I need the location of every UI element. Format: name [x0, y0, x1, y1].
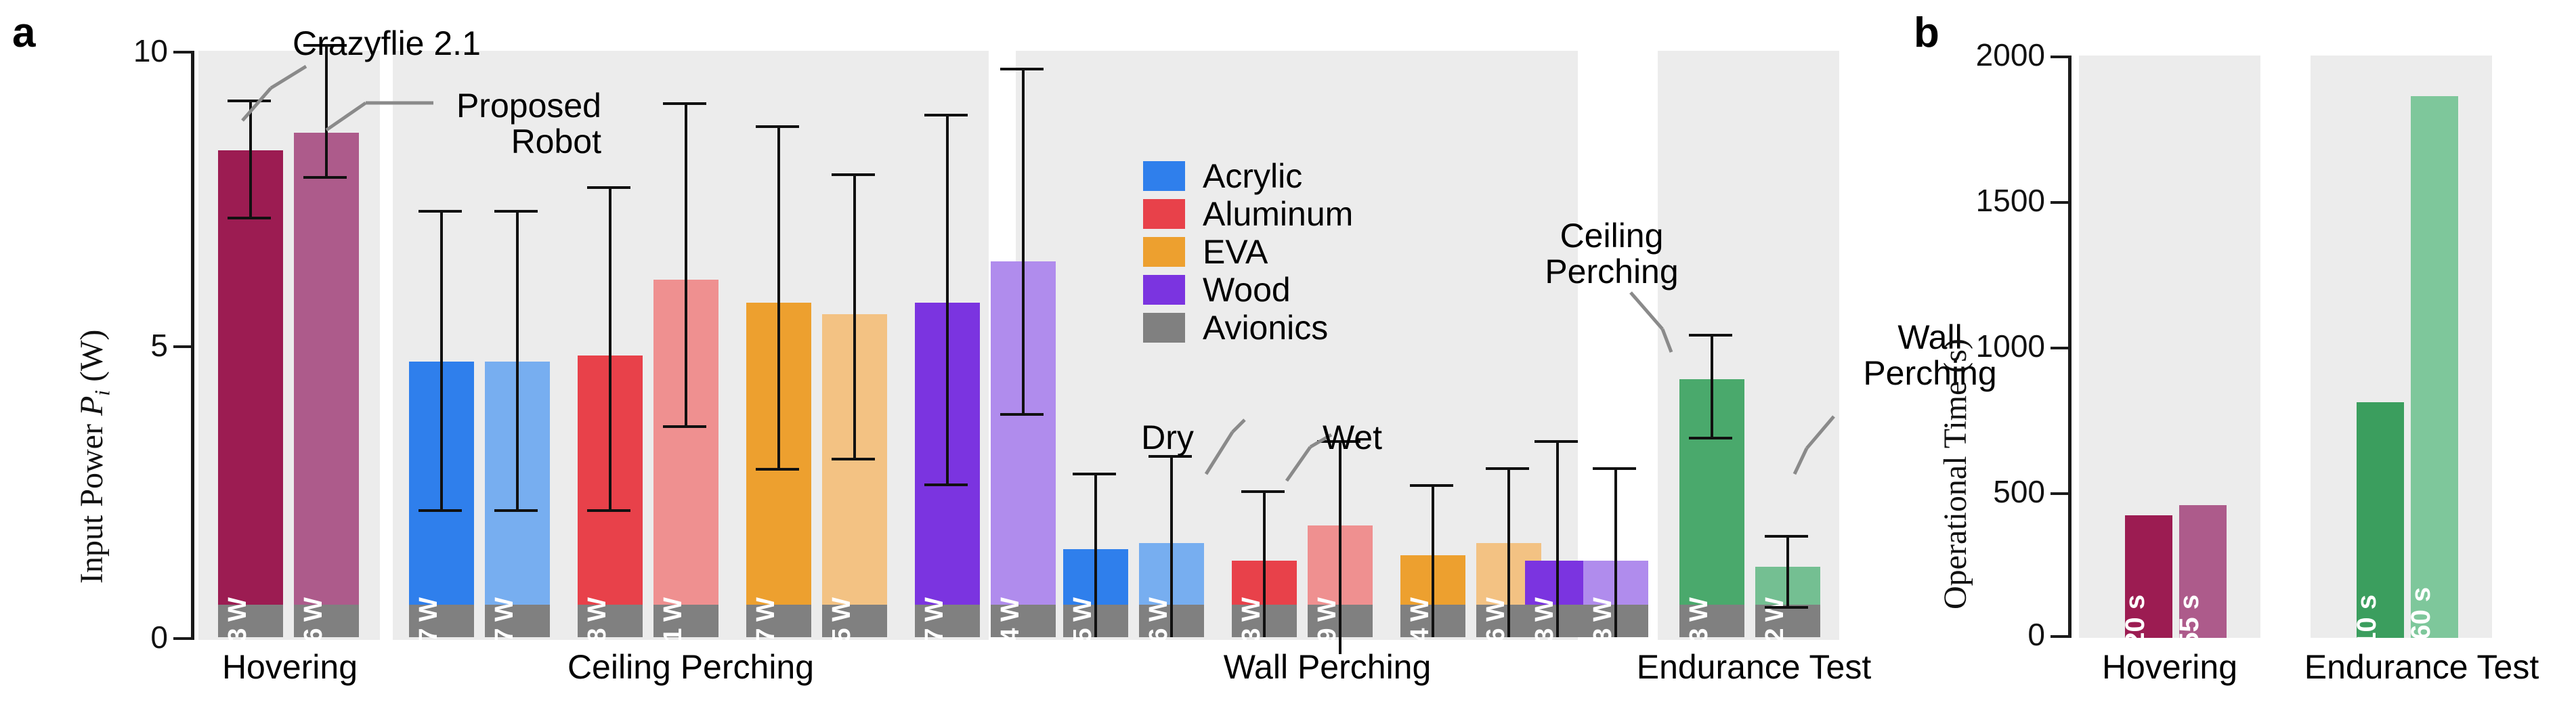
errorbar-stem: [853, 173, 856, 458]
ylabel-subscript: i: [91, 390, 114, 396]
legend-item-avionics[interactable]: Avionics: [1143, 309, 1353, 347]
errorbar-stem: [1022, 68, 1025, 413]
errorbar-stem: [516, 210, 519, 509]
bar-value-label: 4.7 W: [416, 598, 442, 664]
errorbar-stem: [1556, 440, 1559, 637]
errorbar-cap-bottom: [494, 509, 538, 512]
callout-crazyflie: Crazyflie 2.1: [293, 26, 481, 62]
legend-item-acrylic[interactable]: Acrylic: [1143, 157, 1353, 195]
callout-wet: Wet: [1295, 420, 1410, 456]
callout-dry: Dry: [1113, 420, 1222, 456]
errorbar-cap-top: [418, 210, 462, 213]
bar-value-label: 1.6 W: [1146, 598, 1172, 664]
legend-swatch-acrylic: [1143, 161, 1185, 191]
errorbar-stem: [609, 186, 611, 509]
bar-value-label: 4.7 W: [492, 598, 517, 664]
bar-value-label: 5.7 W: [922, 598, 947, 664]
errorbar-cap-bottom: [418, 509, 462, 512]
bar-body: [294, 133, 359, 637]
errorbar-cap-top: [1410, 484, 1453, 487]
errorbar-stem: [685, 102, 687, 425]
errorbar-stem: [1614, 467, 1617, 637]
panel-a-tick-0: [173, 637, 191, 640]
errorbar-stem: [1711, 334, 1713, 437]
errorbar-stem: [777, 125, 780, 468]
panel-a-ticklabel-0: 0: [81, 622, 168, 653]
panel-b-tick-500: [2051, 492, 2068, 495]
legend-label-aluminum: Aluminum: [1203, 197, 1353, 231]
panel-b-tick-2000: [2051, 56, 2068, 58]
bar-hovering-crazyflie: 8.3 W: [218, 150, 283, 637]
bar-hovering-proposed: 8.6 W: [294, 133, 359, 637]
panel-b-xlabel-hovering: Hovering: [2061, 650, 2278, 684]
panel-a-ticklabel-5: 5: [81, 330, 168, 361]
panel-a-tick-10: [173, 51, 191, 53]
bar-b-hovering-crazyflie: 420 s: [2125, 515, 2172, 638]
panel-b-tick-1500: [2051, 201, 2068, 204]
errorbar-cap-bottom: [587, 509, 630, 512]
errorbar-cap-top: [1593, 467, 1636, 470]
errorbar-cap-top: [663, 102, 706, 105]
errorbar-cap-top: [1073, 473, 1116, 475]
errorbar-stem: [1432, 484, 1434, 637]
legend-swatch-eva: [1143, 237, 1185, 267]
errorbar-stem: [1339, 440, 1341, 654]
errorbar-stem: [1507, 467, 1510, 637]
bar-b-hovering-proposed: 455 s: [2179, 505, 2227, 638]
bar-b-endurance-ceiling: 810 s: [2357, 402, 2404, 638]
errorbar-stem: [440, 210, 443, 509]
panel-b-ticklabel-2000: 2000: [1957, 39, 2045, 70]
errorbar-cap-top: [228, 100, 271, 102]
panel-a-ylabel: Input Power Pi (W): [73, 330, 115, 584]
errorbar-cap-top: [1534, 440, 1578, 443]
ylabel-prefix: Input Power: [74, 416, 110, 584]
errorbar-stem: [1170, 455, 1173, 637]
ylabel-symbol: P: [74, 396, 110, 416]
bar-value-label: 1.3 W: [1532, 598, 1558, 664]
panel-a-tick-5: [173, 345, 191, 348]
panel-a-xlabel-endurance: Endurance Test: [1612, 650, 1896, 684]
panel-b-tick-1000: [2051, 347, 2068, 349]
legend-label-avionics: Avionics: [1203, 311, 1328, 345]
panel-b-ticklabel-500: 500: [1957, 476, 2045, 507]
legend-item-aluminum[interactable]: Aluminum: [1143, 195, 1353, 233]
errorbar-stem: [1094, 473, 1097, 637]
errorbar-cap-top: [832, 173, 875, 176]
errorbar-stem: [325, 44, 328, 176]
errorbar-stem: [1786, 535, 1789, 606]
panel-letter-b: b: [1914, 12, 1939, 54]
errorbar-cap-bottom: [1765, 606, 1808, 609]
panel-b-ticklabel-0: 0: [1957, 619, 2045, 650]
legend-swatch-avionics: [1143, 313, 1185, 343]
errorbar-cap-top: [924, 114, 968, 116]
panel-letter-a: a: [12, 12, 35, 54]
errorbar-cap-bottom: [303, 176, 347, 179]
errorbar-cap-bottom: [1000, 413, 1044, 416]
errorbar-cap-top: [1689, 334, 1732, 337]
panel-a-legend: Acrylic Aluminum EVA Wood Avionics: [1143, 157, 1353, 347]
errorbar-cap-top: [756, 125, 799, 128]
panel-a-xlabel-hovering: Hovering: [183, 650, 397, 684]
legend-label-eva: EVA: [1203, 235, 1268, 269]
panel-b-ticklabel-1000: 1000: [1957, 330, 2045, 362]
errorbar-cap-top: [1000, 68, 1044, 70]
bar-value-label: 1.6 W: [1483, 598, 1509, 664]
panel-a-xlabel-wall: Wall Perching: [1172, 650, 1483, 684]
panel-b-ylabel: Operational Time (s): [1937, 339, 1974, 609]
callout-ceiling-perching: Ceiling Perching: [1469, 218, 1754, 290]
errorbar-stem: [946, 114, 949, 483]
figure-root: a Input Power Pi (W) 10 5 0 8.3 W 8.6 W …: [0, 0, 2576, 711]
errorbar-stem: [1263, 490, 1266, 637]
errorbar-cap-top: [494, 210, 538, 213]
errorbar-cap-top: [1241, 490, 1285, 493]
legend-item-wood[interactable]: Wood: [1143, 271, 1353, 309]
errorbar-cap-bottom: [924, 483, 968, 486]
bar-value-label: 1.5 W: [1070, 598, 1096, 664]
panel-b-yaxis-spine: [2068, 56, 2071, 638]
legend-swatch-aluminum: [1143, 199, 1185, 229]
bar-b-endurance-wall: 1860 s: [2411, 96, 2458, 638]
errorbar-cap-bottom: [663, 425, 706, 428]
panel-b-ticklabel-1500: 1500: [1957, 185, 2045, 216]
legend-swatch-wood: [1143, 275, 1185, 305]
callout-proposed-robot: Proposed Robot: [385, 88, 601, 160]
errorbar-stem: [249, 100, 252, 217]
errorbar-cap-top: [1486, 467, 1529, 470]
legend-item-eva[interactable]: EVA: [1143, 233, 1353, 271]
panel-a-xlabel-ceiling: Ceiling Perching: [515, 650, 867, 684]
panel-a-yaxis-spine: [191, 51, 194, 640]
errorbar-cap-bottom: [832, 458, 875, 460]
panel-a-ticklabel-10: 10: [81, 35, 168, 66]
panel-b-tick-0: [2051, 635, 2068, 638]
legend-label-acrylic: Acrylic: [1203, 159, 1302, 193]
bar-value-label: 6.4 W: [997, 598, 1023, 664]
bar-body: [218, 150, 283, 637]
errorbar-cap-top: [587, 186, 630, 189]
errorbar-cap-top: [1765, 535, 1808, 538]
panel-b-xlabel-endurance: Endurance Test: [2273, 650, 2571, 684]
errorbar-cap-bottom: [756, 468, 799, 471]
legend-label-wood: Wood: [1203, 273, 1291, 307]
errorbar-cap-bottom: [228, 217, 271, 219]
errorbar-cap-bottom: [1689, 437, 1732, 439]
